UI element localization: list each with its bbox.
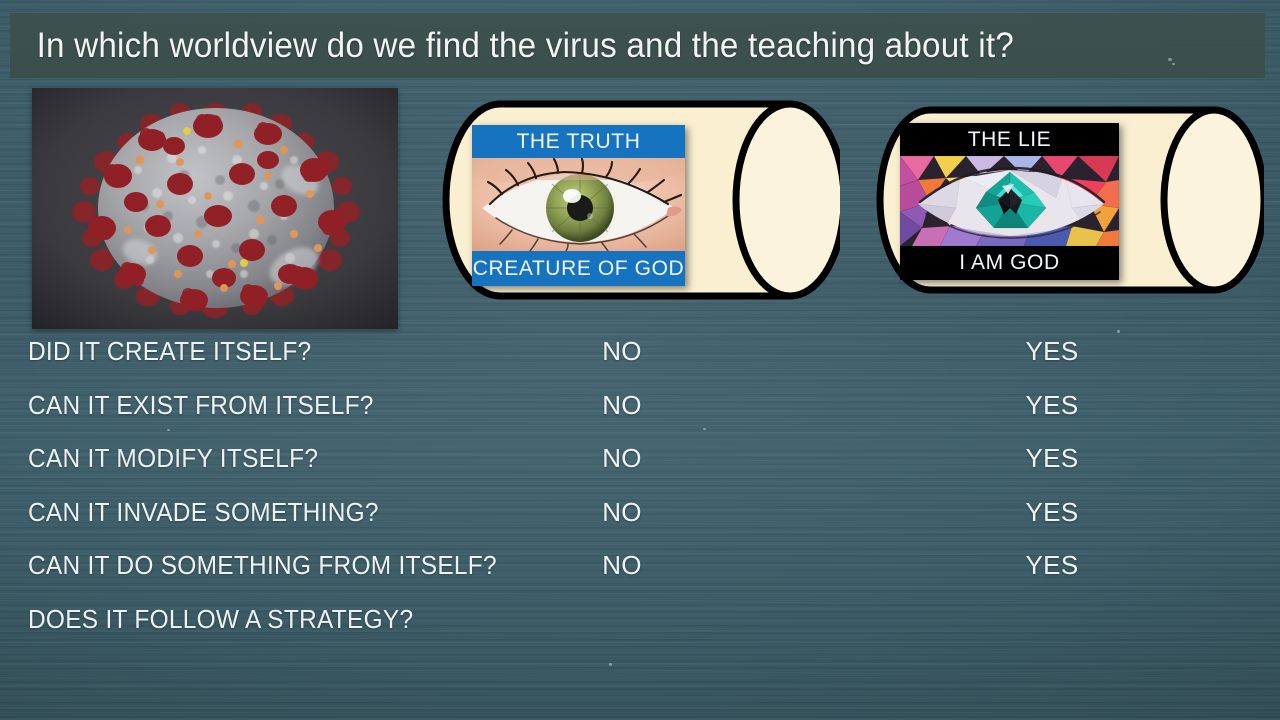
truth-cylinder[interactable]: THE TRUTH: [440, 98, 840, 306]
answer-truth: NO: [560, 390, 684, 421]
table-row: DOES IT FOLLOW A STRATEGY?: [0, 604, 1280, 658]
slide-canvas: In which worldview do we find the virus …: [0, 0, 1280, 720]
lie-cylinder[interactable]: THE LIE: [872, 104, 1264, 300]
green-eye-photo: [472, 158, 685, 251]
question-label: CAN IT MODIFY ITSELF?: [28, 443, 318, 474]
lie-card: THE LIE: [900, 123, 1119, 280]
lie-bottom-label: I AM GOD: [959, 251, 1059, 275]
table-row: CAN IT EXIST FROM ITSELF? NO YES: [0, 390, 1280, 444]
dust-speck: [1172, 63, 1175, 65]
answer-truth: NO: [560, 336, 684, 367]
lie-top-band: THE LIE: [900, 123, 1119, 156]
table-row: CAN IT DO SOMETHING FROM ITSELF? NO YES: [0, 550, 1280, 604]
truth-bottom-label: CREATURE OF GOD: [473, 257, 685, 281]
truth-bottom-band: CREATURE OF GOD: [472, 251, 685, 286]
question-label: CAN IT INVADE SOMETHING?: [28, 497, 379, 528]
answer-truth: NO: [560, 550, 684, 581]
question-label: CAN IT EXIST FROM ITSELF?: [28, 390, 374, 421]
truth-top-label: THE TRUTH: [516, 130, 640, 154]
table-row: CAN IT INVADE SOMETHING? NO YES: [0, 497, 1280, 551]
coronavirus-graphic: [32, 88, 398, 329]
truth-top-band: THE TRUTH: [472, 125, 685, 158]
lie-top-label: THE LIE: [968, 128, 1052, 152]
page-title: In which worldview do we find the virus …: [10, 26, 1014, 66]
answer-lie: YES: [990, 497, 1114, 528]
question-answer-table: DID IT CREATE ITSELF? NO YES CAN IT EXIS…: [0, 336, 1280, 658]
table-row: CAN IT MODIFY ITSELF? NO YES: [0, 443, 1280, 497]
green-eye-graphic: [472, 158, 685, 251]
dust-speck: [609, 663, 612, 666]
answer-lie: YES: [990, 336, 1114, 367]
dust-speck: [1117, 330, 1120, 333]
answer-lie: YES: [990, 443, 1114, 474]
mosaic-eye-artwork: [900, 156, 1119, 246]
answer-lie: YES: [990, 550, 1114, 581]
lie-bottom-band: I AM GOD: [900, 246, 1119, 280]
slide-title-bar: In which worldview do we find the virus …: [10, 13, 1265, 78]
question-label: CAN IT DO SOMETHING FROM ITSELF?: [28, 550, 497, 581]
mosaic-eye-graphic: [900, 156, 1119, 246]
question-label: DID IT CREATE ITSELF?: [28, 336, 311, 367]
truth-card: THE TRUTH: [472, 125, 685, 286]
table-row: DID IT CREATE ITSELF? NO YES: [0, 336, 1280, 390]
dust-speck: [1168, 58, 1172, 61]
coronavirus-illustration: [32, 88, 398, 329]
question-label: DOES IT FOLLOW A STRATEGY?: [28, 604, 413, 635]
answer-truth: NO: [560, 497, 684, 528]
answer-lie: YES: [990, 390, 1114, 421]
answer-truth: NO: [560, 443, 684, 474]
